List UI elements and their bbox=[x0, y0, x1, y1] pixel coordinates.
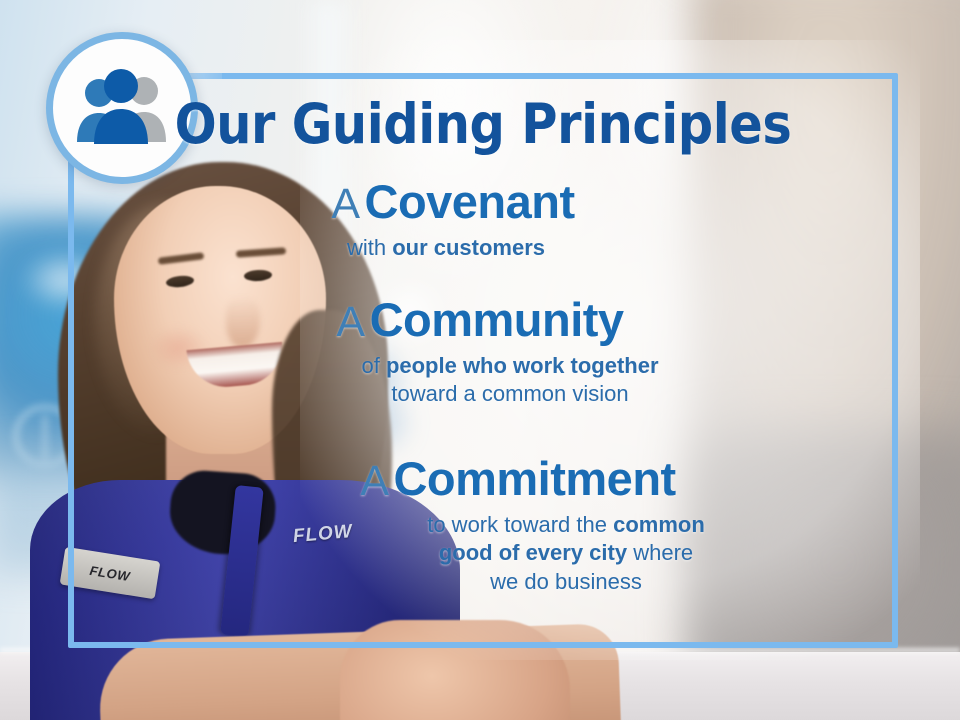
subtext-line: toward a common vision bbox=[128, 380, 892, 409]
principle-subtext: of people who work together toward a com… bbox=[68, 352, 892, 409]
subtext-part: toward a common vision bbox=[391, 381, 628, 406]
guiding-principles-graphic: FLOW FLOW Our Guiding Principles bbox=[0, 0, 960, 720]
principle-commitment: A Commitment to work toward the common g… bbox=[68, 455, 898, 597]
subtext-part: we do business bbox=[490, 569, 642, 594]
principle-covenant: A Covenant with our customers bbox=[68, 178, 898, 262]
principle-title: A Commitment bbox=[138, 455, 898, 504]
subtext-part-bold: common bbox=[613, 512, 705, 537]
subtext-line: to work toward the common bbox=[234, 511, 898, 540]
text-content: Our Guiding Principles A Covenant with o… bbox=[68, 73, 898, 648]
subtext-part-bold: people who work together bbox=[386, 353, 659, 378]
principle-title: A Community bbox=[68, 296, 892, 345]
principle-community: A Community of people who work together … bbox=[68, 296, 898, 409]
subtext-part: of bbox=[361, 353, 385, 378]
principle-subtext: to work toward the common good of every … bbox=[138, 511, 898, 597]
principle-article: A bbox=[331, 180, 360, 228]
subtext-line: we do business bbox=[234, 568, 898, 597]
page-title: Our Guiding Principles bbox=[110, 97, 857, 152]
principle-subtext: with our customers bbox=[68, 234, 838, 263]
subtext-part: where bbox=[627, 540, 693, 565]
subtext-line: with our customers bbox=[68, 234, 824, 263]
principle-word: Covenant bbox=[365, 175, 575, 228]
subtext-part-bold: good of every city bbox=[439, 540, 627, 565]
principle-article: A bbox=[360, 457, 389, 505]
principle-word: Community bbox=[370, 293, 624, 346]
subtext-line: good of every city where bbox=[234, 539, 898, 568]
principle-title: A Covenant bbox=[68, 178, 838, 227]
principle-article: A bbox=[336, 298, 365, 346]
principle-word: Commitment bbox=[393, 452, 675, 505]
subtext-part: to work toward the bbox=[427, 512, 613, 537]
subtext-part: with bbox=[347, 235, 392, 260]
subtext-line: of people who work together bbox=[128, 352, 892, 381]
subtext-part-bold: our customers bbox=[392, 235, 545, 260]
